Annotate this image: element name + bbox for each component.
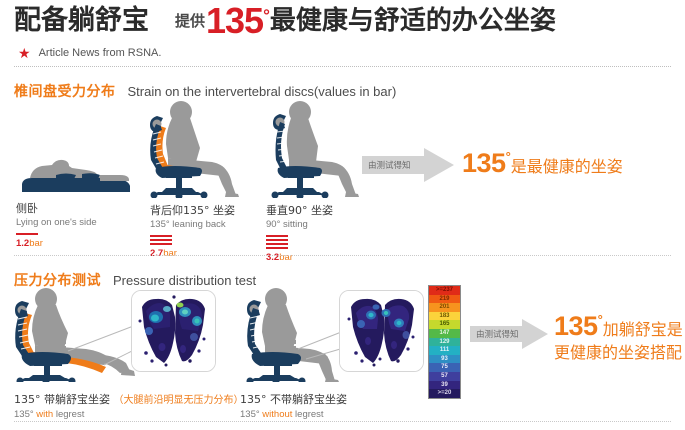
section2-conclusion-line2: 更健康的坐姿搭配 xyxy=(554,342,683,364)
caption-without-legrest-cn: 135° 不带躺舒宝坐姿 xyxy=(240,393,347,406)
subtitle-text: Article News from RSNA. xyxy=(39,47,162,59)
pressure-map-with-legrest xyxy=(131,290,216,372)
figure-chair-135-caption-en: 135° leaning back xyxy=(150,218,235,231)
section1-conclusion: 135°是最健康的坐姿 xyxy=(462,148,623,179)
legend-row: 219 xyxy=(429,295,460,304)
figure-lying-bar-indicator xyxy=(16,233,97,235)
chair-upright-90-icon xyxy=(258,100,368,198)
figure-chair-135-value-unit: bar xyxy=(163,248,177,259)
chair-reclined-135-icon xyxy=(138,100,248,198)
section2-body: 由测试得知 135°加躺舒宝是 更健康的坐姿搭配 xyxy=(0,285,685,395)
section2-conclusion-line1: 加躺舒宝是 xyxy=(603,320,683,339)
section1-heading-cn: 椎间盘受力分布 xyxy=(14,81,116,101)
legend-row: 165 xyxy=(429,320,460,329)
header-divider xyxy=(14,66,671,67)
caption-with-legrest-note: （大腿前沿明显无压力分布） xyxy=(114,395,244,406)
section1-heading-en: Strain on the intervertebral discs(value… xyxy=(128,84,397,99)
section1-heading: 椎间盘受力分布 Strain on the intervertebral dis… xyxy=(14,81,396,101)
legend-row: 75 xyxy=(429,363,460,372)
pressure-heatmap-with-legrest xyxy=(132,291,215,371)
title-angle-number: 135 xyxy=(206,4,263,38)
chair-with-legrest-icon xyxy=(8,287,138,382)
section2-arrow: 由测试得知 xyxy=(470,319,548,349)
figure-chair-135-value-number: 2.7 xyxy=(150,248,163,259)
legend-row: 93 xyxy=(429,355,460,364)
caption-with-legrest-en-prefix: 135° xyxy=(14,409,36,420)
section2-divider xyxy=(14,421,671,422)
figure-lying-on-side: 侧卧 Lying on one's side 1.2bar xyxy=(16,148,134,203)
section1-arrow: 由测试得知 xyxy=(362,148,454,182)
caption-with-legrest: 135° 带躺舒宝坐姿 （大腿前沿明显无压力分布） 135° with legr… xyxy=(14,392,244,421)
poster-page: 配备躺舒宝 提供 135 ° 最健康与舒适的办公坐姿 ★ Article New… xyxy=(0,0,685,430)
figure-chair-90: 垂直90° 坐姿 90° sitting 3.2bar xyxy=(258,100,368,203)
legend-row: 129 xyxy=(429,338,460,347)
caption-without-legrest: 135° 不带躺舒宝坐姿 135° without legrest xyxy=(240,392,347,421)
pressure-scale-legend: >=23721920118316514712911193755739>=20 xyxy=(428,285,461,399)
figure-chair-135-value: 2.7bar xyxy=(150,248,235,259)
section2-conclusion-number: 135 xyxy=(554,311,598,341)
legend-row: 111 xyxy=(429,346,460,355)
figure-chair-90-value: 3.2bar xyxy=(266,252,333,263)
section2-arrow-label: 由测试得知 xyxy=(476,328,519,340)
figure-chair-90-caption-en: 90° sitting xyxy=(266,218,333,231)
legend-row: >=20 xyxy=(429,389,460,398)
figure-chair-90-caption-cn: 垂直90° 坐姿 xyxy=(266,204,333,218)
title-left-cn: 配备躺舒宝 xyxy=(14,4,149,38)
section1-conclusion-text: 是最健康的坐姿 xyxy=(511,157,623,176)
caption-without-legrest-en-highlight: without xyxy=(262,409,292,420)
figure-chair-135-bar-indicator xyxy=(150,235,235,245)
figure-chair-135-caption-cn: 背后仰135° 坐姿 xyxy=(150,204,235,218)
page-title: 配备躺舒宝 提供 135 ° 最健康与舒适的办公坐姿 xyxy=(14,4,556,38)
title-degree-symbol: ° xyxy=(263,6,270,26)
figure-lying-value-unit: bar xyxy=(29,238,43,249)
section1-arrow-label: 由测试得知 xyxy=(368,159,411,171)
title-prefix-cn: 提供 xyxy=(175,4,206,38)
figure-chair-90-value-unit: bar xyxy=(279,252,293,263)
figure-chair-135-caption: 背后仰135° 坐姿 135° leaning back 2.7bar xyxy=(150,204,235,259)
section1-divider xyxy=(14,255,671,256)
person-lying-on-side-icon xyxy=(16,148,134,198)
figure-lying-value: 1.2bar xyxy=(16,238,97,249)
legend-row: 201 xyxy=(429,303,460,312)
legend-row: 183 xyxy=(429,312,460,321)
figure-lying-caption-en: Lying on one's side xyxy=(16,216,97,229)
figure-lying-caption: 侧卧 Lying on one's side 1.2bar xyxy=(16,202,97,249)
caption-with-legrest-cn: 135° 带躺舒宝坐姿 xyxy=(14,393,110,406)
caption-with-legrest-en-highlight: with xyxy=(36,409,53,420)
legend-row: 39 xyxy=(429,381,460,390)
figure-chair-90-bar-indicator xyxy=(266,235,333,249)
figure-chair-90-value-number: 3.2 xyxy=(266,252,279,263)
figure-chair-without-legrest xyxy=(236,287,356,387)
pressure-heatmap-without-legrest xyxy=(340,291,423,371)
section2-conclusion: 135°加躺舒宝是 更健康的坐姿搭配 xyxy=(554,311,683,364)
figure-lying-value-number: 1.2 xyxy=(16,238,29,249)
title-right-cn: 最健康与舒适的办公坐姿 xyxy=(270,4,556,38)
legend-row: 57 xyxy=(429,372,460,381)
legend-row: >=237 xyxy=(429,286,460,295)
figure-chair-with-legrest xyxy=(8,287,138,387)
figure-lying-caption-cn: 侧卧 xyxy=(16,202,97,216)
caption-without-legrest-en-suffix: legrest xyxy=(292,409,323,420)
subtitle-row: ★ Article News from RSNA. xyxy=(18,46,161,60)
section1-conclusion-number: 135 xyxy=(462,148,506,178)
section2-conclusion-degree: ° xyxy=(598,312,603,327)
header: 配备躺舒宝 提供 135 ° 最健康与舒适的办公坐姿 ★ Article New… xyxy=(0,0,685,68)
legend-row: 147 xyxy=(429,329,460,338)
caption-with-legrest-en-suffix: legrest xyxy=(53,409,84,420)
pressure-map-without-legrest xyxy=(339,290,424,372)
section1-body: 侧卧 Lying on one's side 1.2bar xyxy=(0,100,685,255)
chair-without-legrest-icon xyxy=(236,287,356,382)
section1-conclusion-degree: ° xyxy=(506,149,511,164)
caption-without-legrest-en-prefix: 135° xyxy=(240,409,262,420)
figure-chair-135: 背后仰135° 坐姿 135° leaning back 2.7bar xyxy=(138,100,248,203)
star-icon: ★ xyxy=(18,46,31,60)
